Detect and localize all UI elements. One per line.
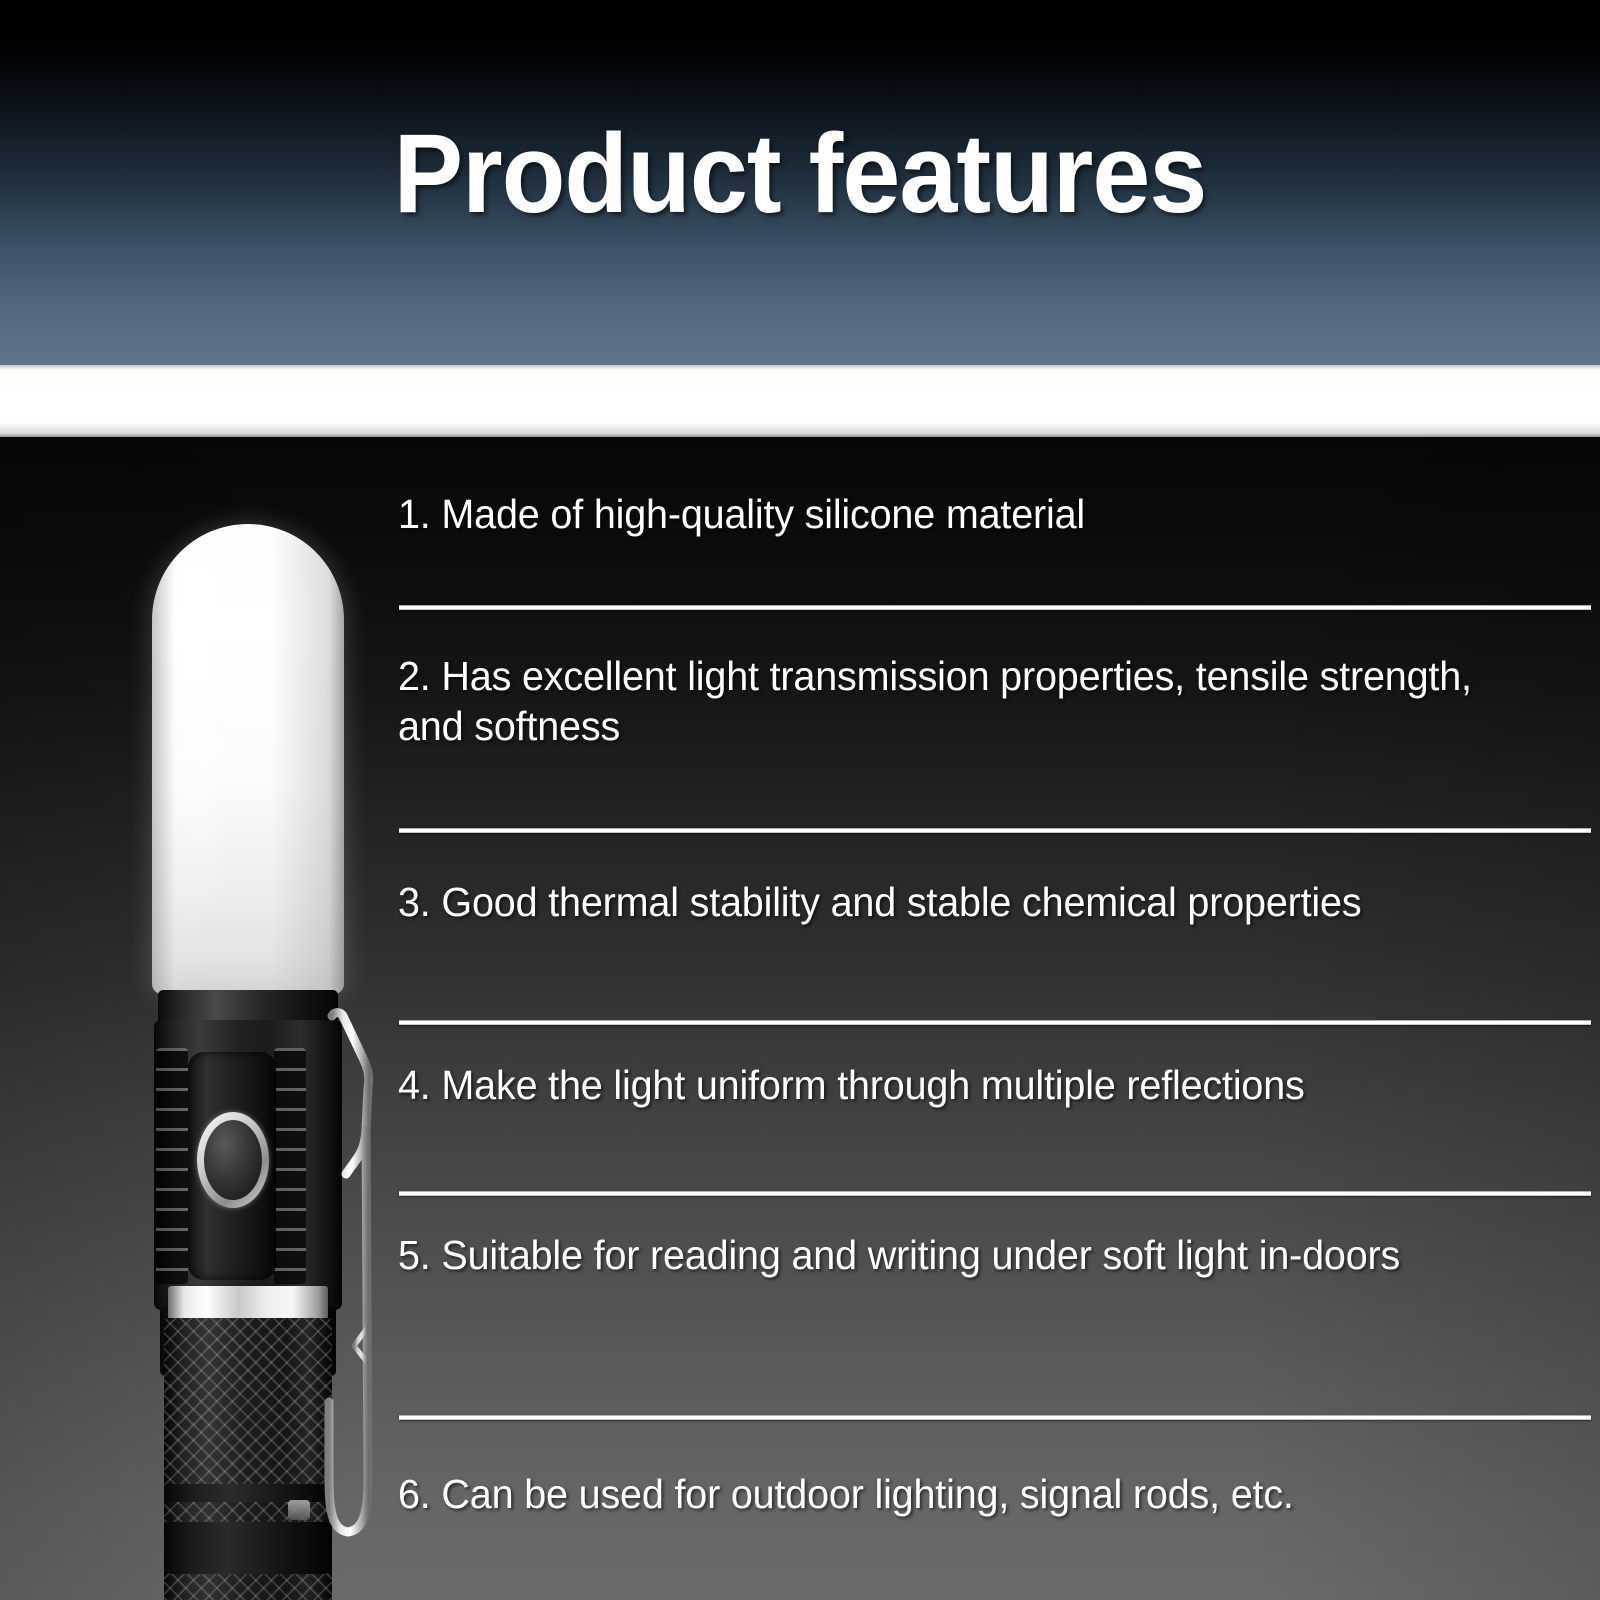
header-divider-strip <box>0 365 1600 437</box>
feature-divider-5 <box>399 1415 1591 1420</box>
cooling-fins-left <box>156 1048 188 1284</box>
chrome-accent-band <box>168 1286 328 1320</box>
feature-item-1: 1. Made of high-quality silicone materia… <box>398 489 1556 539</box>
feature-item-6: 6. Can be used for outdoor lighting, sig… <box>398 1469 1556 1519</box>
feature-divider-2 <box>399 828 1591 833</box>
power-switch-button <box>204 1120 262 1200</box>
feature-item-2: 2. Has excellent light transmission prop… <box>398 651 1498 751</box>
cooling-fins-right <box>274 1048 306 1284</box>
pocket-clip-icon <box>310 1010 408 1590</box>
feature-item-3: 3. Good thermal stability and stable che… <box>398 877 1556 927</box>
feature-item-5: 5. Suitable for reading and writing unde… <box>398 1230 1493 1280</box>
feature-divider-1 <box>399 605 1591 610</box>
page-title: Product features <box>56 118 1544 230</box>
diffuser-highlight <box>178 560 218 940</box>
tail-lanyard-nub <box>288 1500 310 1520</box>
knurled-barrel-upper <box>164 1318 332 1490</box>
tail-cap <box>164 1522 332 1574</box>
product-features-page: Product features <box>0 0 1600 1600</box>
feature-list: 1. Made of high-quality silicone materia… <box>398 437 1592 1600</box>
feature-divider-4 <box>399 1191 1591 1196</box>
feature-divider-3 <box>399 1020 1591 1025</box>
product-image-flashlight <box>120 500 410 1600</box>
feature-item-4: 4. Make the light uniform through multip… <box>398 1060 1556 1110</box>
